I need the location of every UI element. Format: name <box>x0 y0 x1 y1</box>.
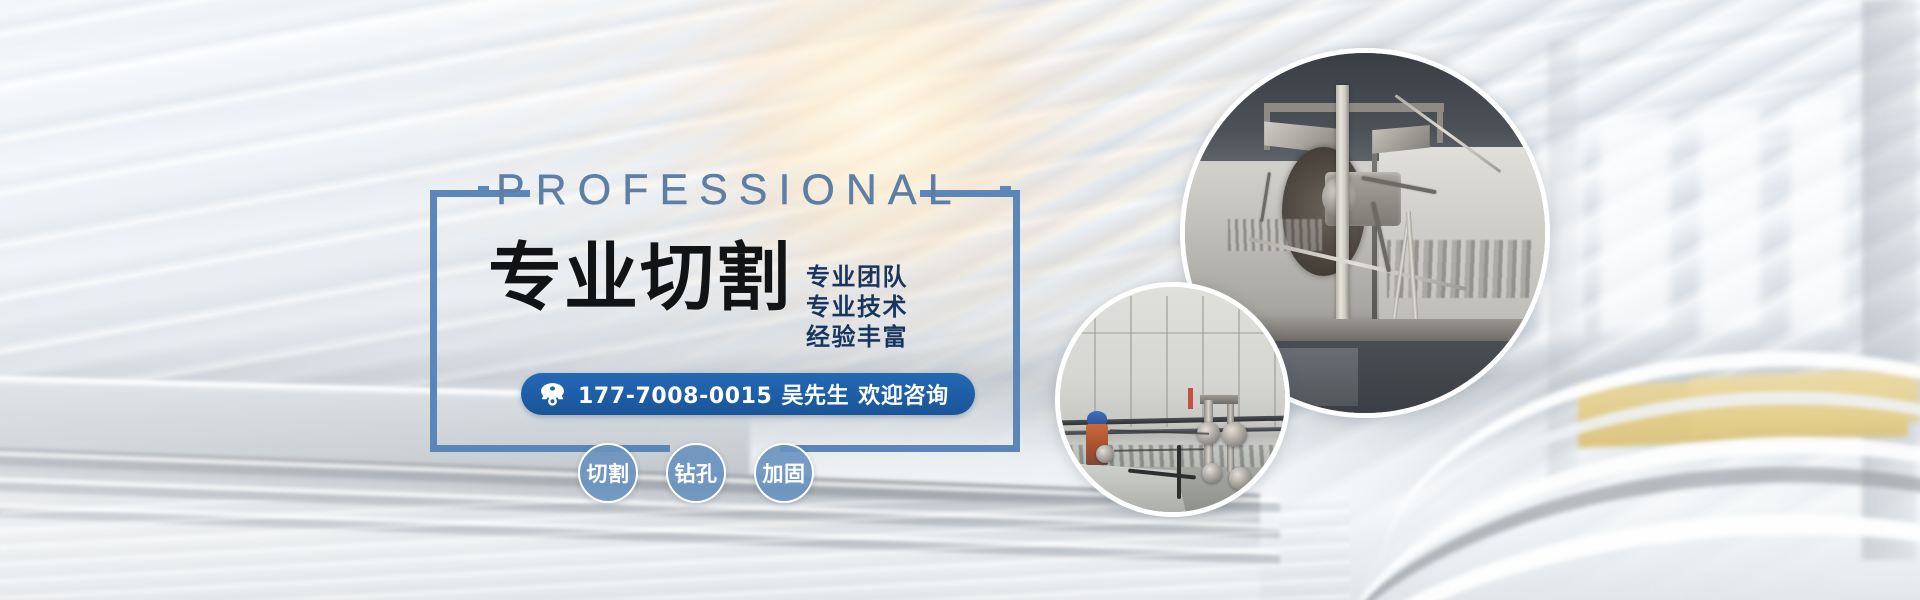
photo-hose <box>1177 445 1181 499</box>
eyebrow-heading: PROFESSIONAL <box>496 166 963 215</box>
photo-frame-post <box>1437 103 1443 143</box>
feature-item: 专业技术 <box>806 292 908 322</box>
photo-saw-pulley <box>1229 467 1252 490</box>
photo-red-marker <box>1188 388 1193 408</box>
photo-wall-seams <box>1060 296 1285 427</box>
telephone-icon <box>539 382 566 407</box>
worker-wire-saw-photo <box>1055 282 1290 517</box>
service-circle-cutting[interactable]: 切割 <box>578 443 638 503</box>
service-circle-drilling[interactable]: 钻孔 <box>666 443 726 503</box>
phone-number: 177-7008-0015 <box>578 384 772 409</box>
page-title: 专业切割 <box>488 218 792 325</box>
eyebrow-tick-left <box>478 186 489 197</box>
photo-saw-pulley <box>1222 422 1247 447</box>
feature-item: 经验丰富 <box>806 322 908 352</box>
phone-bar-text: 177-7008-0015吴先生欢迎咨询 <box>578 378 949 410</box>
service-circle-reinforcement[interactable]: 加固 <box>754 443 814 503</box>
feature-list: 专业团队 专业技术 经验丰富 <box>806 262 908 352</box>
eyebrow-tick-right <box>1000 186 1011 197</box>
contact-person: 吴先生 <box>781 384 849 409</box>
photo-saw-pulley <box>1096 445 1114 463</box>
service-circle-group: 切割 钻孔 加固 <box>578 443 814 503</box>
promotional-banner: PROFESSIONAL 专业切割 专业团队 专业技术 经验丰富 177-700… <box>0 0 1920 600</box>
call-to-action: 欢迎咨询 <box>858 384 948 409</box>
photo-saw-pulley <box>1202 463 1222 483</box>
contact-phone-bar[interactable]: 177-7008-0015吴先生欢迎咨询 <box>521 373 975 415</box>
feature-item: 专业团队 <box>806 262 908 292</box>
background-haze <box>0 0 1920 600</box>
photo-cut-slab <box>1060 463 1186 513</box>
photo-wall-seam <box>1060 332 1285 334</box>
